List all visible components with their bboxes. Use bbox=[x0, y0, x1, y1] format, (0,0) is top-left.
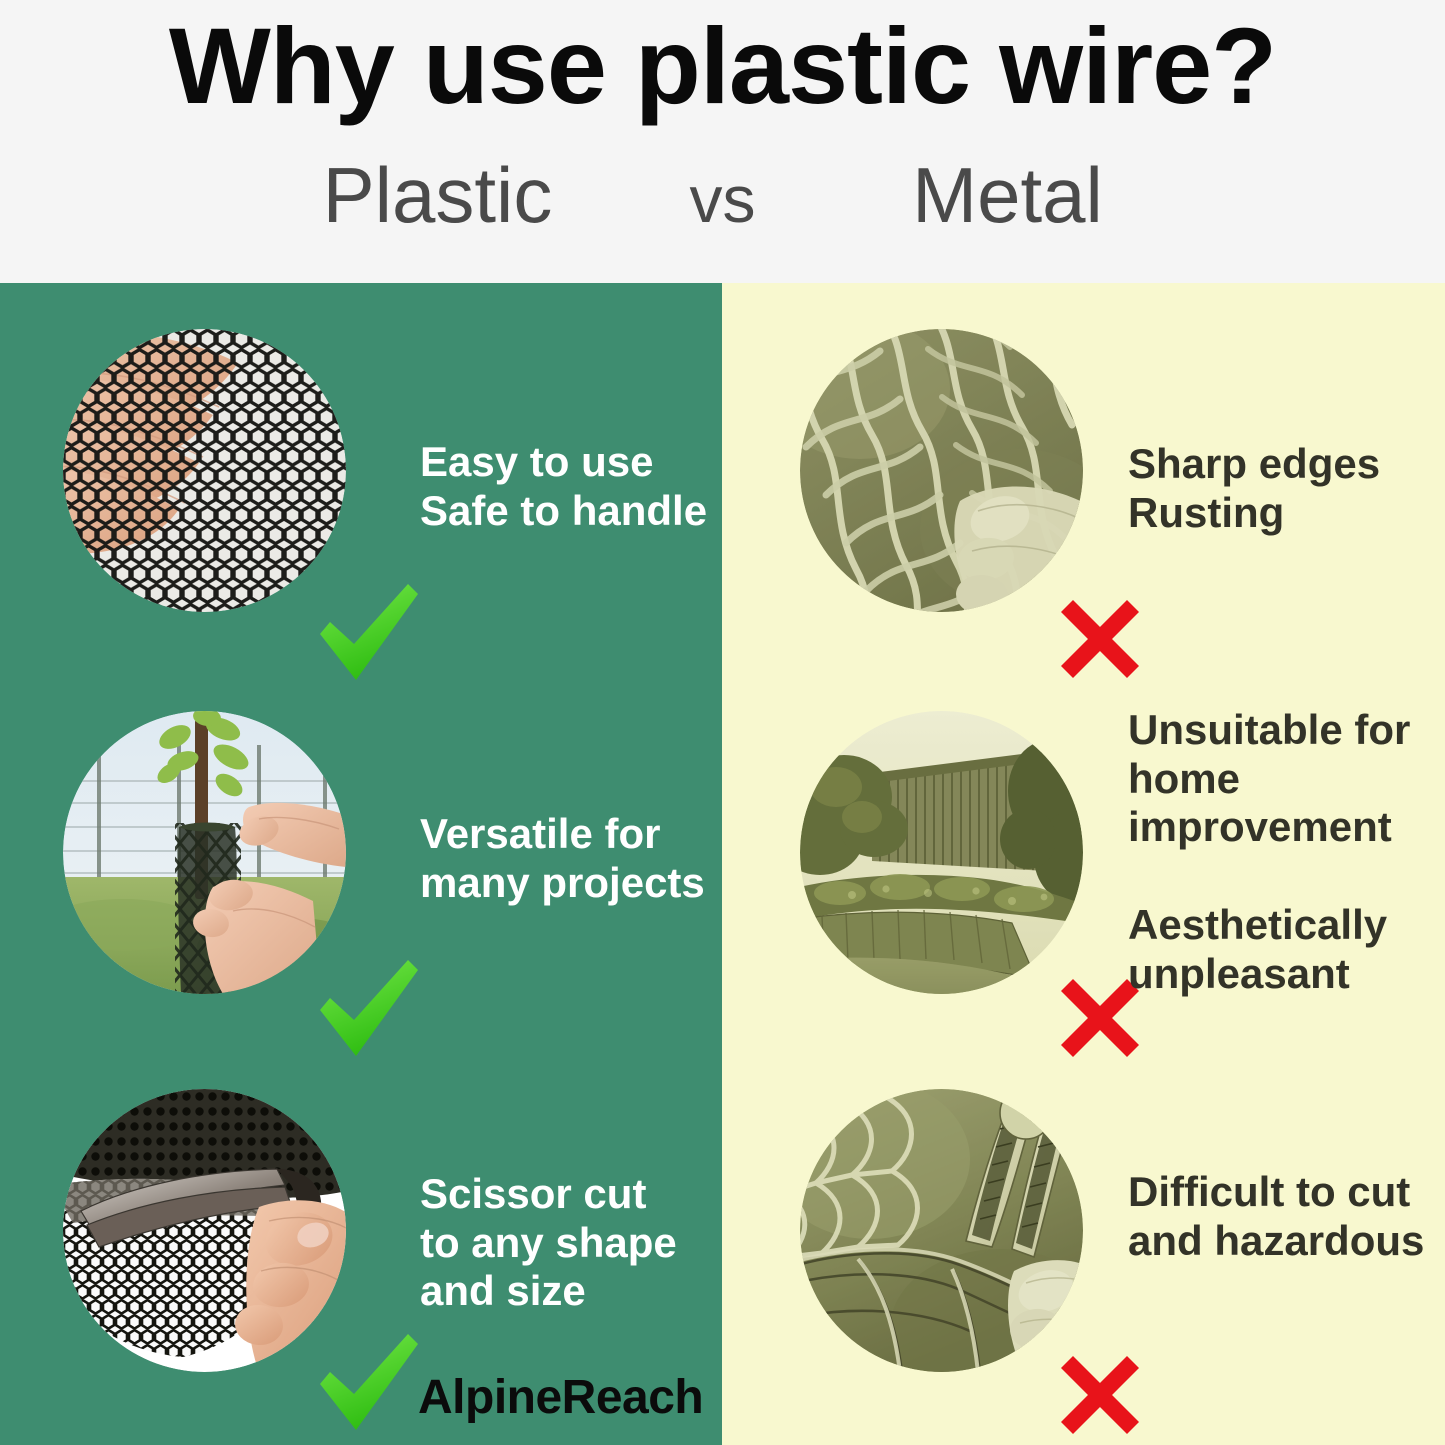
brand-logo: AlpineReach bbox=[418, 1370, 703, 1425]
check-icon bbox=[312, 582, 424, 690]
scissor-cut-mesh-photo bbox=[63, 1089, 346, 1372]
scissor-cut-mesh-illustration bbox=[63, 1089, 346, 1372]
subtitle-metal: Metal bbox=[808, 155, 1208, 237]
plastic-row-1-caption: Easy to use Safe to handle bbox=[420, 438, 720, 535]
plastic-row-2-caption: Versatile for many projects bbox=[420, 810, 720, 907]
plastic-mesh-hand-illustration bbox=[63, 329, 346, 612]
garden-wooden-fence-illustration bbox=[800, 711, 1083, 994]
header: Why use plastic wire? Plastic vs Metal bbox=[0, 0, 1445, 283]
plastic-mesh-hand-photo bbox=[63, 329, 346, 612]
infographic-page: Why use plastic wire? Plastic vs Metal bbox=[0, 0, 1445, 1445]
check-icon bbox=[312, 958, 424, 1066]
wire-cutter-illustration bbox=[800, 1089, 1083, 1372]
chain-link-fence-photo bbox=[800, 329, 1083, 612]
subtitle-plastic: Plastic bbox=[238, 155, 638, 237]
metal-row-1-caption: Sharp edges Rusting bbox=[1128, 440, 1438, 537]
tree-guard-illustration bbox=[63, 711, 346, 994]
cross-icon bbox=[1057, 1352, 1143, 1438]
wire-cutter-photo bbox=[800, 1089, 1083, 1372]
comparison-subtitle: Plastic vs Metal bbox=[0, 155, 1445, 237]
cross-icon bbox=[1057, 596, 1143, 682]
metal-row-2-caption: Unsuitable for home improvement Aestheti… bbox=[1128, 706, 1440, 998]
tree-guard-photo bbox=[63, 711, 346, 994]
chain-link-fence-illustration bbox=[800, 329, 1083, 612]
plastic-row-3-caption: Scissor cut to any shape and size bbox=[420, 1170, 720, 1316]
check-icon bbox=[312, 1332, 424, 1440]
garden-wooden-fence-photo bbox=[800, 711, 1083, 994]
metal-row-3-caption: Difficult to cut and hazardous bbox=[1128, 1168, 1440, 1265]
subtitle-vs: vs bbox=[638, 165, 808, 234]
page-title: Why use plastic wire? bbox=[0, 12, 1445, 120]
